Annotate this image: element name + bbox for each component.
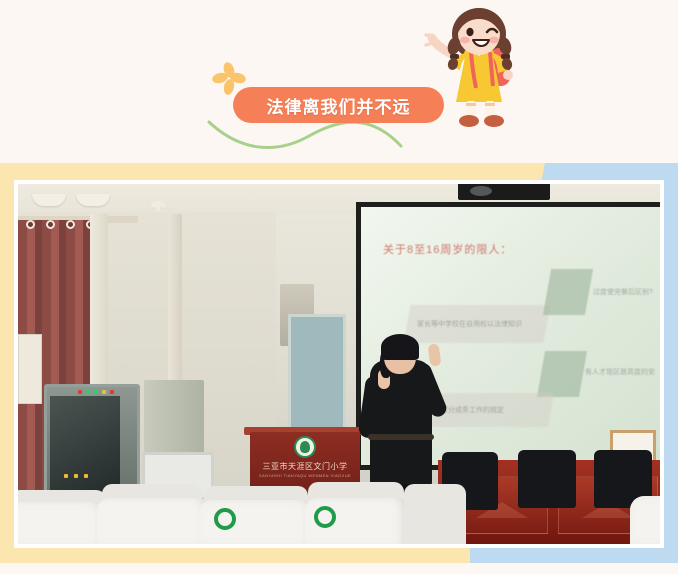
slide-card-text: 家长等中学校在自用权以法律知识 xyxy=(417,319,547,329)
wall-notice xyxy=(18,334,42,404)
rack-led xyxy=(86,390,90,394)
rack-led xyxy=(110,390,114,394)
rack-led xyxy=(78,390,82,394)
school-crest-inner xyxy=(300,441,310,453)
rack-led xyxy=(74,474,78,478)
school-name-pinyin: SANYASHI TIANYAQU WENMEN XIAOXUE xyxy=(252,473,358,478)
poster-title-banner: 法律离我们并不远 xyxy=(233,87,444,123)
ceiling-fan-icon xyxy=(126,200,190,216)
presenter-hair xyxy=(381,334,419,360)
projector-lens-icon xyxy=(470,186,492,196)
equipment-rack-glass-door xyxy=(50,396,120,496)
green-circle-logo xyxy=(214,508,236,530)
hero-header: 法律离我们并不远 xyxy=(0,0,678,163)
slide-heading: 关于8至16周岁的限人： xyxy=(383,241,512,257)
rack-led xyxy=(102,390,106,394)
slide-tag xyxy=(543,269,593,315)
slide-tag xyxy=(537,351,587,397)
rack-led xyxy=(84,474,88,478)
curtain-ring xyxy=(66,220,75,229)
poster-page: 法律离我们并不远 xyxy=(0,0,678,574)
office-chair xyxy=(518,450,576,508)
covered-chair-back xyxy=(404,484,466,544)
green-circle-logo xyxy=(314,506,336,528)
rack-led xyxy=(94,390,98,394)
slide-card-text: 有人才现区居高度的安 xyxy=(585,367,660,377)
slide-card-text: 过度使完餐后区别? xyxy=(593,287,660,297)
school-name-label: 三亚市天涯区文门小学 xyxy=(252,461,358,472)
rack-led xyxy=(64,474,68,478)
curtain-ring xyxy=(46,220,55,229)
covered-chair xyxy=(18,502,108,544)
classroom-photo: 关于8至16周岁的限人： 家长等中学校在自用权以法律知识 过度使完餐后区别? 有… xyxy=(18,184,660,544)
flower-decoration-icon xyxy=(212,62,246,96)
covered-chair xyxy=(96,498,212,544)
curtain-ring xyxy=(26,220,35,229)
presenter-belt xyxy=(368,434,434,440)
cartoon-schoolgirl-illustration xyxy=(424,4,534,136)
covered-chair xyxy=(630,496,660,544)
classroom-photo-frame: 关于8至16周岁的限人： 家长等中学校在自用权以法律知识 过度使完餐后区别? 有… xyxy=(14,180,664,548)
